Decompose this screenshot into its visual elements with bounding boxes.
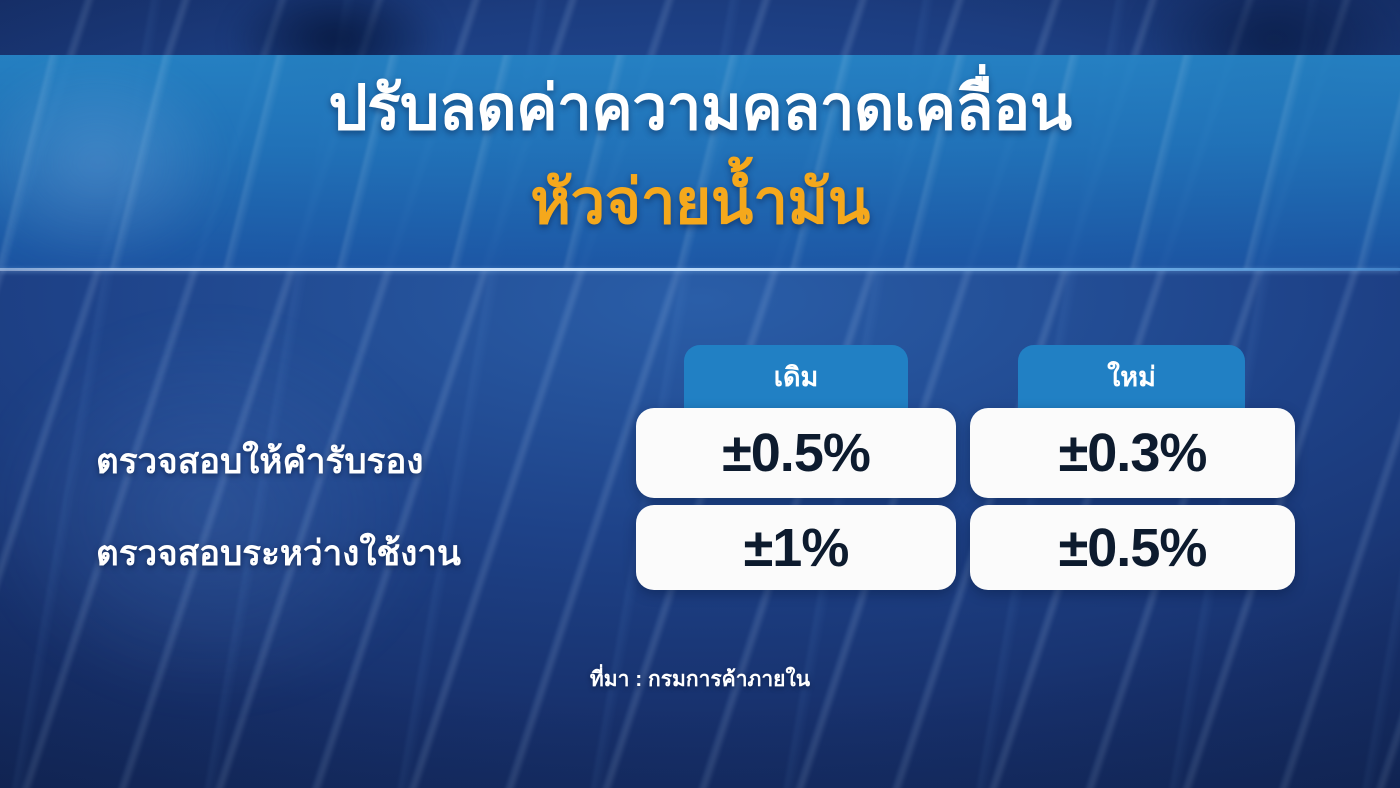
column-header-old: เดิม: [684, 345, 908, 413]
row-label-certification: ตรวจสอบให้คำรับรอง: [96, 434, 616, 489]
cell-certification-old: ±0.5%: [636, 408, 956, 498]
column-header-new: ใหม่: [1018, 345, 1245, 413]
cell-in-service-new: ±0.5%: [970, 505, 1295, 590]
row-label-in-service: ตรวจสอบระหว่างใช้งาน: [96, 526, 616, 581]
infographic-slide: ปรับลดค่าความคลาดเคลื่อน หัวจ่ายน้ำมัน เ…: [0, 0, 1400, 788]
cell-in-service-old: ±1%: [636, 505, 956, 590]
cell-certification-new: ±0.3%: [970, 408, 1295, 498]
source-credit: ที่มา : กรมการค้าภายใน: [0, 663, 1400, 696]
